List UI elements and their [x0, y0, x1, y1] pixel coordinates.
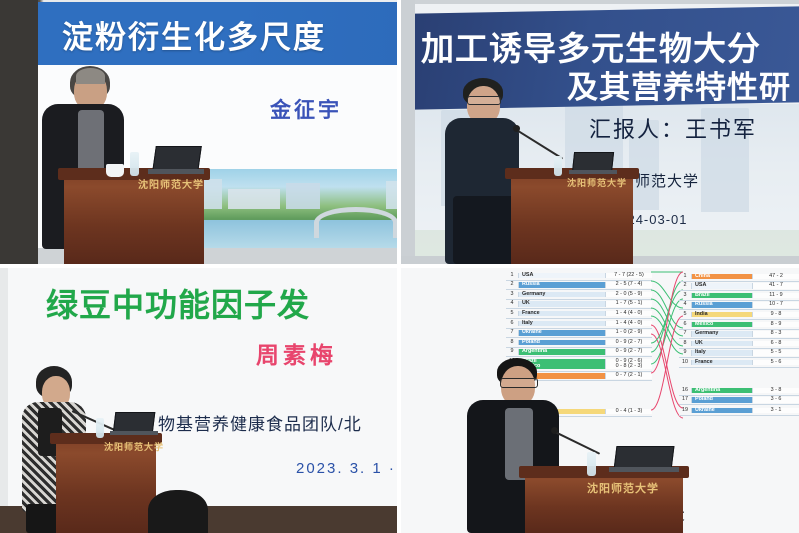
country-cell: Argentina [692, 388, 752, 393]
rank-cell: 9 [679, 350, 692, 355]
rank-cell: 8 [679, 341, 692, 346]
rank-cell: 8 [506, 340, 519, 345]
rank-cell: 7 [506, 330, 519, 335]
table-row: 5France1 - 4 (4 - 0) [506, 309, 652, 319]
rank-cell: 1 [679, 274, 692, 279]
rank-cell: 17 [679, 397, 692, 402]
country-cell: Ukraine [519, 330, 605, 335]
country-cell: USA [519, 273, 605, 278]
score-cell: 10 - 7 [752, 302, 799, 307]
table-row: 2USA41 - 7 [679, 282, 799, 292]
score-cell: 1 - 4 (4 - 0) [605, 311, 652, 316]
score-cell: 1 - 4 (4 - 0) [605, 321, 652, 326]
score-cell: 11 - 9 [752, 293, 799, 298]
score-cell: 2 - 5 (7 - 4) [605, 282, 652, 287]
slide-reporter-label: 汇报人：王书军 [589, 112, 757, 144]
score-cell: 8 - 3 [752, 331, 799, 336]
slide-title-text: 绿豆中功能因子发 [46, 280, 310, 326]
score-cell: 3 - 6 [752, 397, 799, 402]
table-row: 6Mexico8 - 9 [679, 320, 799, 330]
country-cell: Ukraine [692, 408, 752, 413]
podium-nameplate: 沈阳师范大学 [567, 176, 627, 189]
slide-team-line: 物基营养健康食品团队/北 [158, 410, 362, 435]
slide-date: 2023. 3. 1 · [296, 460, 396, 477]
audience-head-silhouette [148, 490, 208, 533]
ranking-table-right-lower: 16Argentina3 - 817Poland3 - 6 [679, 386, 799, 405]
score-cell: 7 - 7 (22 - 5) [605, 273, 652, 278]
country-cell: Mexico [692, 322, 752, 327]
score-cell: 6 - 8 [752, 341, 799, 346]
microphone-head [551, 427, 558, 434]
table-row: 3Brazil11 - 9 [679, 291, 799, 301]
rank-cell: 1 [506, 273, 519, 278]
table-row: 8UK6 - 8 [679, 339, 799, 349]
rank-cell: 2 [506, 282, 519, 287]
table-row: 1China47 - 2 [679, 272, 799, 282]
tea-cup [106, 164, 124, 177]
table-row: 4Russia10 - 7 [679, 301, 799, 311]
score-cell: 3 - 1 [752, 408, 799, 413]
ranking-table-right-lower2: 19Ukraine3 - 1 [679, 406, 799, 416]
rank-cell: 4 [506, 301, 519, 306]
country-cell: Germany [519, 292, 605, 297]
table-row: 1USA7 - 7 (22 - 5) [506, 271, 652, 281]
side-wall-dark [0, 0, 38, 264]
rank-cell: 10 [679, 360, 692, 365]
slide-presenter-name: 周素梅 [256, 336, 337, 370]
rank-cell: 9 [506, 349, 519, 354]
country-cell: Italy [519, 321, 605, 326]
ranking-table-right: 1China47 - 22USA41 - 73Brazil11 - 94Russ… [679, 272, 799, 368]
score-cell: 5 - 6 [752, 360, 799, 365]
country-cell: China [692, 274, 752, 279]
score-cell: 8 - 9 [752, 322, 799, 327]
table-row: 3Germany2 - 0 (5 - 9) [506, 290, 652, 300]
water-bottle [587, 452, 596, 476]
table-row: 7Ukraine1 - 0 (2 - 9) [506, 329, 652, 339]
score-cell: 5 - 5 [752, 350, 799, 355]
photo-panel-top-right: 加工诱导多元生物大分 及其营养特性研 汇报人：王书军 沈阳师范大学 2024-0… [401, 0, 799, 264]
score-cell: 47 - 2 [752, 274, 799, 279]
score-cell: 0 - 9 (2 - 7) [605, 340, 652, 345]
table-row: 9Argentina0 - 9 (2 - 7) [506, 348, 652, 358]
rank-cell: 19 [679, 408, 692, 413]
water-bottle [96, 418, 104, 438]
slide-title-text: 淀粉衍生化多尺度 [62, 12, 326, 57]
country-cell: Germany [692, 331, 752, 336]
table-row: 6Italy1 - 4 (4 - 0) [506, 319, 652, 329]
rank-cell: 5 [679, 312, 692, 317]
rank-cell: 16 [679, 388, 692, 393]
photo-panel-bottom-left: 绿豆中功能因子发 周素梅 物基营养健康食品团队/北 2023. 3. 1 · 沈… [0, 268, 397, 533]
country-cell: Italy [692, 350, 752, 355]
table-row: 2Russia2 - 5 (7 - 4) [506, 281, 652, 291]
country-cell: Argentina [519, 349, 605, 354]
glasses-icon [467, 96, 501, 105]
table-row: 8Poland0 - 9 (2 - 7) [506, 338, 652, 348]
score-cell: 41 - 7 [752, 283, 799, 288]
country-cell: France [692, 360, 752, 365]
ranking-table-left: 1USA7 - 7 (22 - 5)2Russia2 - 5 (7 - 4)3G… [506, 271, 652, 367]
score-cell: 0 - 4 (1 - 3) [605, 409, 652, 414]
table-row: 10France5 - 6 [679, 358, 799, 368]
glasses-icon [500, 378, 538, 388]
score-cell: 0 - 8 (2 - 3) [605, 364, 652, 369]
table-row: 5India9 - 8 [679, 310, 799, 320]
table-row: 19Ukraine3 - 1 [679, 406, 799, 416]
podium-nameplate: 沈阳师范大学 [587, 480, 659, 496]
country-cell: UK [692, 341, 752, 346]
collage-stage: 淀粉衍生化多尺度 金征宇 [0, 0, 799, 533]
country-cell: UK [519, 301, 605, 306]
country-cell: Russia [519, 282, 605, 287]
score-cell: 0 - 7 (2 - 1) [605, 373, 652, 378]
rank-cell: 6 [679, 322, 692, 327]
water-bottle [130, 152, 139, 176]
water-bottle [554, 156, 562, 176]
table-row: 16Argentina3 - 8 [679, 386, 799, 396]
rank-cell: 7 [679, 331, 692, 336]
podium-nameplate: 沈阳师范大学 [138, 176, 204, 191]
country-cell: India [692, 312, 752, 317]
table-row: 4UK1 - 7 (5 - 1) [506, 300, 652, 310]
table-row: 17Poland3 - 6 [679, 396, 799, 406]
table-row: 7Germany8 - 3 [679, 330, 799, 340]
country-cell: Brazil [692, 293, 752, 298]
score-cell: 2 - 0 (5 - 9) [605, 292, 652, 297]
rank-cell: 6 [506, 321, 519, 326]
score-cell: 1 - 0 (2 - 9) [605, 330, 652, 335]
microphone-head [513, 125, 520, 132]
score-cell: 3 - 8 [752, 388, 799, 393]
score-cell: 9 - 8 [752, 312, 799, 317]
country-cell: France [519, 311, 605, 316]
photo-panel-top-left: 淀粉衍生化多尺度 金征宇 [0, 0, 397, 264]
table-row: 9Italy5 - 5 [679, 349, 799, 359]
rank-cell: 4 [679, 302, 692, 307]
slide-title-line2: 及其营养特性研 [567, 62, 791, 107]
score-cell: 0 - 9 (2 - 7) [605, 349, 652, 354]
slide-presenter-name: 金征宇 [270, 94, 342, 124]
rank-cell: 3 [506, 292, 519, 297]
country-cell: Poland [692, 397, 752, 402]
rank-cell: 5 [506, 311, 519, 316]
country-cell: Russia [692, 302, 752, 307]
photo-panel-bottom-right: 1USA7 - 7 (22 - 5)2Russia2 - 5 (7 - 4)3G… [401, 268, 799, 533]
country-cell: USA [692, 283, 752, 288]
side-wall [401, 0, 415, 264]
podium-nameplate: 沈阳师范大学 [104, 440, 164, 453]
rank-cell: 2 [679, 283, 692, 288]
score-cell: 1 - 7 (5 - 1) [605, 301, 652, 306]
rank-cell: 3 [679, 293, 692, 298]
country-cell: Poland [519, 340, 605, 345]
